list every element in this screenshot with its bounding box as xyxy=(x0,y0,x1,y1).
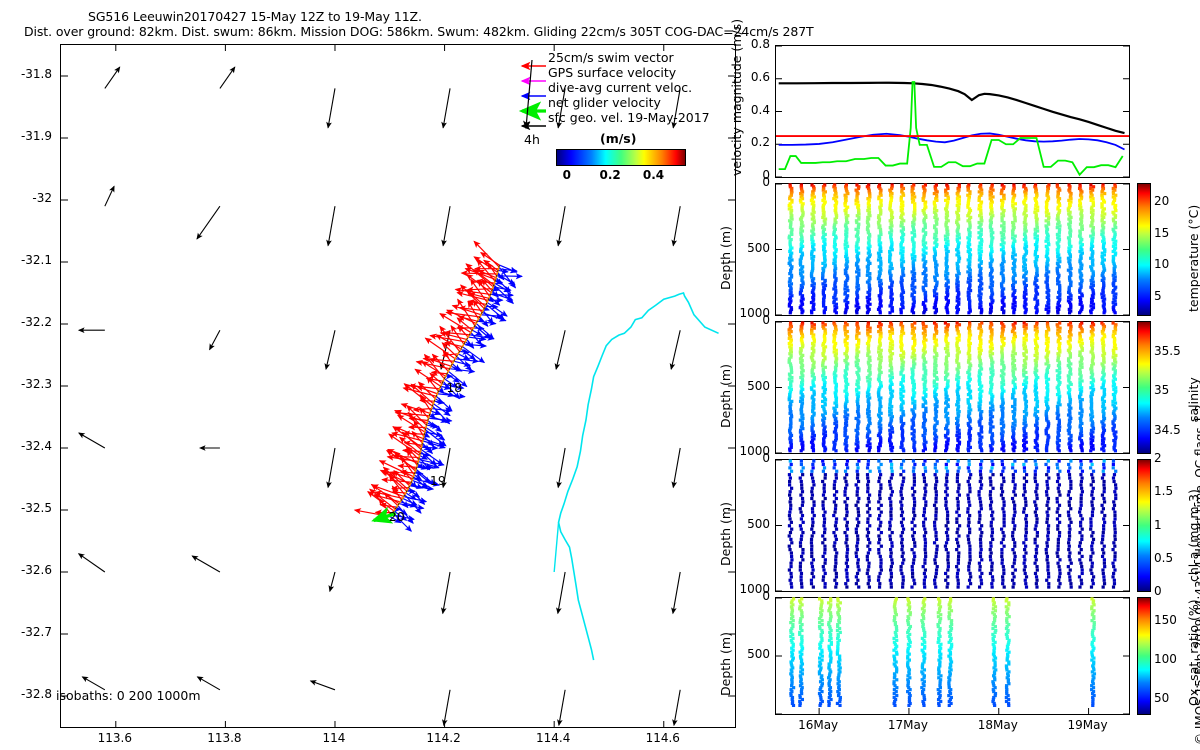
geo-velocity-arrow xyxy=(197,206,220,239)
geo-velocity-arrow xyxy=(443,572,450,613)
chla-sample xyxy=(790,585,793,588)
chla-sample xyxy=(790,470,793,473)
chla-sample xyxy=(788,511,791,514)
salinity-sample xyxy=(958,323,961,326)
chla-profiles xyxy=(788,459,1118,588)
map-y-tick: -32.5 xyxy=(0,501,52,515)
depth-tick: 500 xyxy=(705,241,770,255)
salinity-panel[interactable] xyxy=(775,321,1130,454)
dive-number-label: 20 xyxy=(389,509,405,524)
map-y-tick: -32.4 xyxy=(0,439,52,453)
temperature-sample xyxy=(922,311,925,314)
temperature-sample xyxy=(1056,311,1059,314)
temperature-sample xyxy=(789,311,792,314)
geo-velocity-arrow xyxy=(328,448,335,487)
salinity-sample xyxy=(855,449,858,452)
temperature-sample xyxy=(989,311,992,314)
salinity-profiles xyxy=(788,321,1118,452)
geo-velocity-arrow xyxy=(79,433,105,448)
chla-sample xyxy=(800,463,803,466)
temperature-sample xyxy=(1114,311,1117,314)
chla-sample xyxy=(800,483,803,486)
geo-velocity-arrow xyxy=(443,206,450,245)
salinity-sample xyxy=(788,449,791,452)
salinity-sample xyxy=(835,412,838,415)
chla-sample xyxy=(790,555,793,558)
map-colorbar-title: (m/s) xyxy=(600,131,636,146)
temperature-sample xyxy=(911,253,914,256)
temperature-colorbar-tick: 20 xyxy=(1154,194,1169,208)
velocity-y-tick: 0.4 xyxy=(710,103,770,117)
velocity-y-tick: 0.6 xyxy=(710,70,770,84)
temperature-sample xyxy=(900,311,903,314)
chla-sample xyxy=(788,545,791,548)
temperature-sample xyxy=(810,311,813,314)
chla-sample xyxy=(800,517,803,520)
salinity-sample xyxy=(967,449,970,452)
chla-sample xyxy=(790,541,793,544)
map-y-tick: -32.2 xyxy=(0,315,52,329)
temperature-colorbar xyxy=(1137,183,1151,316)
temperature-colorbar-tick: 5 xyxy=(1154,289,1162,303)
salinity-plot-canvas[interactable] xyxy=(776,322,1129,453)
chla-sample xyxy=(789,459,792,462)
temperature-sample xyxy=(855,311,858,314)
chla-sample xyxy=(799,494,802,497)
temperature-sample xyxy=(980,311,983,314)
temperature-sample xyxy=(1092,185,1095,188)
velocity-series xyxy=(779,83,1125,133)
salinity-sample xyxy=(990,449,993,452)
salinity-ylabel: Depth (m) xyxy=(718,364,733,428)
page-title-line2: Dist. over ground: 82km. Dist. swum: 86k… xyxy=(24,24,814,39)
salinity-colorbar-tick: 35.5 xyxy=(1154,344,1181,358)
swim-vector xyxy=(432,354,448,371)
dive-number-label: 18 xyxy=(446,380,462,395)
salinity-sample xyxy=(936,378,939,381)
chla-sample xyxy=(801,497,804,500)
velocity-plot-canvas[interactable] xyxy=(776,46,1129,177)
dive-avg-current-vector xyxy=(459,351,468,352)
chla-sample xyxy=(789,572,792,575)
temperature-sample xyxy=(1102,311,1105,314)
temperature-sample xyxy=(967,311,970,314)
dive-avg-current-vector xyxy=(497,276,522,277)
dive-avg-current-vector xyxy=(485,306,498,307)
temperature-sample xyxy=(991,189,994,192)
swim-vector xyxy=(425,338,455,359)
salinity-sample xyxy=(913,449,916,452)
map-x-tick: 114 xyxy=(323,731,346,745)
temperature-sample xyxy=(843,287,846,290)
chla-sample xyxy=(790,551,793,554)
geo-velocity-arrow xyxy=(328,206,335,245)
geo-velocity-arrow xyxy=(558,448,565,487)
chla-sample xyxy=(802,521,805,524)
legend-item-label: dive-avg current veloc. xyxy=(548,80,692,95)
dive-avg-current-vector xyxy=(483,310,493,323)
salinity-sample xyxy=(980,449,983,452)
temperature-profiles xyxy=(788,183,1118,314)
geo-velocity-arrow xyxy=(556,330,565,369)
temperature-sample xyxy=(991,195,994,198)
temperature-sample xyxy=(1036,209,1039,212)
geo-velocity-arrow xyxy=(328,88,335,127)
chla-sample xyxy=(802,466,805,469)
legend-item-label: sfc geo. vel. 19-May-2017 xyxy=(548,110,710,125)
chla-sample xyxy=(789,504,792,507)
salinity-sample xyxy=(1014,352,1017,355)
salinity-sample xyxy=(1102,449,1105,452)
chla-sample xyxy=(800,470,803,473)
legend-item-label: GPS surface velocity xyxy=(548,65,676,80)
salinity-sample xyxy=(902,390,905,393)
temperature-sample xyxy=(888,311,891,314)
temperature-sample xyxy=(1002,311,1005,314)
chla-sample xyxy=(801,500,804,503)
geo-velocity-arrow xyxy=(326,330,335,369)
geo-velocity-arrow xyxy=(671,330,680,369)
dive-avg-current-vector xyxy=(490,294,513,295)
dive-avg-current-vector xyxy=(427,425,439,427)
geo-velocity-arrow xyxy=(105,67,120,88)
salinity-sample xyxy=(834,449,837,452)
temperature-sample xyxy=(1035,311,1038,314)
salinity-colorbar-tick: 35 xyxy=(1154,383,1169,397)
chla-sample xyxy=(800,487,803,490)
chla-sample xyxy=(799,476,802,479)
temperature-sample xyxy=(1068,311,1071,314)
map-canvas[interactable] xyxy=(61,45,735,727)
geo-velocity-arrow xyxy=(192,556,220,572)
chla-sample xyxy=(790,558,793,561)
map-x-tick: 113.8 xyxy=(207,731,241,745)
geo-velocity-arrow xyxy=(210,330,220,349)
map-y-tick: -31.9 xyxy=(0,129,52,143)
geo-velocity-arrow xyxy=(79,554,105,572)
map-y-tick: -31.8 xyxy=(0,67,52,81)
temperature-sample xyxy=(1024,311,1027,314)
velocity-series xyxy=(779,82,1123,175)
map-colorbar-tick: 0.4 xyxy=(643,168,664,182)
chla-sample xyxy=(789,579,792,582)
salinity-sample xyxy=(956,449,959,452)
salinity-sample xyxy=(1081,449,1084,452)
chla-plot-canvas[interactable] xyxy=(776,460,1129,591)
chla-sample xyxy=(789,531,792,534)
chla-sample xyxy=(799,541,802,544)
chla-sample xyxy=(789,507,792,510)
velocity-y-tick: 0.2 xyxy=(710,135,770,149)
chla-sample xyxy=(788,466,791,469)
salinity-sample xyxy=(824,412,827,415)
chla-sample xyxy=(800,528,803,531)
chla-sample xyxy=(788,568,791,571)
salinity-sample xyxy=(845,449,848,452)
salinity-sample xyxy=(1069,449,1072,452)
salinity-sample xyxy=(868,442,871,445)
salinity-sample xyxy=(944,321,947,324)
map-y-tick: -32.3 xyxy=(0,377,52,391)
salinity-sample xyxy=(866,444,869,447)
chla-sample xyxy=(790,575,793,578)
time-scale-label: 4h xyxy=(524,132,540,147)
chla-sample xyxy=(800,538,803,541)
chla-sample xyxy=(800,534,803,537)
chla-sample xyxy=(799,511,802,514)
chla-sample xyxy=(799,545,802,548)
salinity-sample xyxy=(922,405,925,408)
dive-avg-current-vector xyxy=(428,418,451,421)
temperature-sample xyxy=(936,190,939,193)
chla-sample xyxy=(790,582,793,585)
map-colorbar-tick: 0 xyxy=(563,168,571,182)
salinity-sample xyxy=(1036,449,1039,452)
salinity-sample xyxy=(877,449,880,452)
temperature-sample xyxy=(1111,291,1114,294)
isobath-1000m xyxy=(559,293,719,660)
map-y-tick: -32.1 xyxy=(0,253,52,267)
chla-sample xyxy=(789,476,792,479)
geo-velocity-arrow xyxy=(673,572,680,613)
chla-sample xyxy=(801,514,804,517)
chla-sample xyxy=(789,500,792,503)
chla-sample xyxy=(789,538,792,541)
salinity-sample xyxy=(1089,449,1092,452)
chla-sample xyxy=(788,548,791,551)
temperature-sample xyxy=(1012,311,1015,314)
temperature-sample xyxy=(823,311,826,314)
temperature-sample xyxy=(912,311,915,314)
geo-velocity-arrow xyxy=(330,572,335,591)
legend-item-label: 25cm/s swim vector xyxy=(548,50,674,65)
chla-sample xyxy=(788,483,791,486)
time-scale-arrow xyxy=(526,60,532,128)
geo-velocity-arrow xyxy=(673,206,680,245)
geo-velocity-arrow xyxy=(105,186,114,206)
temperature-sample xyxy=(835,311,838,314)
geo-velocity-arrow xyxy=(444,690,450,725)
salinity-sample xyxy=(867,449,870,452)
temperature-sample xyxy=(846,192,849,195)
salinity-colorbar-tick: 34.5 xyxy=(1154,423,1181,437)
geo-velocity-arrow xyxy=(673,448,680,487)
geo-velocity-arrow xyxy=(559,690,565,725)
geo-velocity-arrow xyxy=(674,690,680,725)
chla-panel[interactable] xyxy=(775,459,1130,592)
map-y-tick: -32.6 xyxy=(0,563,52,577)
depth-tick: 0 xyxy=(705,175,770,189)
dive-avg-current-vector xyxy=(498,270,508,271)
temperature-colorbar-tick: 10 xyxy=(1154,257,1169,271)
map-x-tick: 114.4 xyxy=(536,731,570,745)
geo-velocity-arrow xyxy=(443,88,450,127)
swim-vector xyxy=(420,400,434,401)
salinity-sample xyxy=(800,449,803,452)
temperature-sample xyxy=(910,284,913,287)
map-colorbar-tick: 0.2 xyxy=(600,168,621,182)
salinity-sample xyxy=(1012,449,1015,452)
salinity-sample xyxy=(902,352,905,355)
swim-vector xyxy=(440,314,471,333)
temperature-sample xyxy=(924,246,927,249)
temperature-sample xyxy=(946,311,949,314)
temperature-sample xyxy=(1103,192,1106,195)
geo-velocity-arrow xyxy=(558,572,565,613)
temperature-sample xyxy=(966,214,969,217)
chla-sample xyxy=(788,514,791,517)
salinity-sample xyxy=(1112,321,1115,324)
temperature-sample xyxy=(1003,229,1006,232)
map-y-tick: -32.7 xyxy=(0,625,52,639)
temperature-sample xyxy=(934,311,937,314)
dive-avg-current-vector xyxy=(421,447,437,448)
map-colorbar xyxy=(556,149,686,166)
chla-sample xyxy=(788,534,791,537)
isobath-note: isobaths: 0 200 1000m xyxy=(56,688,201,703)
swim-vector xyxy=(474,241,499,267)
dive-avg-current-vector xyxy=(495,281,502,282)
dive-avg-current-vector xyxy=(464,344,486,346)
temperature-sample xyxy=(922,272,925,275)
swim-vector xyxy=(467,289,492,290)
chla-sample xyxy=(790,463,793,466)
temperature-sample xyxy=(868,303,871,306)
temperature-sample xyxy=(843,299,846,302)
salinity-sample xyxy=(890,449,893,452)
page-title-line1: SG516 Leeuwin20170427 15-May 12Z to 19-M… xyxy=(88,9,422,24)
dive-avg-current-vector xyxy=(415,473,423,474)
temperature-sample xyxy=(1078,311,1081,314)
chla-sample xyxy=(801,490,804,493)
salinity-sample xyxy=(922,449,925,452)
dive-avg-current-vector xyxy=(482,313,506,321)
salinity-sample xyxy=(933,449,936,452)
temperature-sample xyxy=(821,216,824,219)
salinity-colorbar xyxy=(1137,321,1151,454)
swim-vector xyxy=(384,493,397,506)
velocity-y-tick: 0.8 xyxy=(710,37,770,51)
chla-sample xyxy=(800,459,803,462)
geo-velocity-arrow xyxy=(197,677,220,690)
salinity-sample xyxy=(888,429,891,432)
salinity-sample xyxy=(944,449,947,452)
chla-sample xyxy=(800,480,803,483)
velocity-panel[interactable] xyxy=(775,45,1130,178)
salinity-sample xyxy=(888,330,891,333)
salinity-sample xyxy=(812,449,815,452)
chla-sample xyxy=(790,487,793,490)
legend-item-label: net glider velocity xyxy=(548,95,661,110)
chla-sample xyxy=(790,521,793,524)
map-y-tick: -32 xyxy=(0,191,52,205)
chla-sample xyxy=(801,531,804,534)
salinity-sample xyxy=(980,430,983,433)
salinity-sample xyxy=(1025,381,1028,384)
temperature-colorbar-label: temperature (°C) xyxy=(1186,205,1200,312)
salinity-sample xyxy=(1078,340,1081,343)
temperature-sample xyxy=(835,195,838,198)
map-x-tick: 114.2 xyxy=(426,731,460,745)
temperature-sample xyxy=(1046,311,1049,314)
temperature-colorbar-tick: 15 xyxy=(1154,226,1169,240)
chla-sample xyxy=(790,528,793,531)
salinity-sample xyxy=(902,449,905,452)
dive-avg-current-vector xyxy=(436,396,452,411)
chla-sample xyxy=(789,565,792,568)
salinity-sample xyxy=(1045,449,1048,452)
temperature-sample xyxy=(1002,241,1005,244)
map-y-tick: -32.8 xyxy=(0,687,52,701)
temperature-sample xyxy=(955,311,958,314)
salinity-sample xyxy=(1070,383,1073,386)
chla-sample xyxy=(788,473,791,476)
temperature-sample xyxy=(879,311,882,314)
chla-sample xyxy=(801,504,804,507)
depth-tick: 0 xyxy=(705,313,770,327)
dive-avg-current-vector xyxy=(424,434,429,437)
temperature-plot-canvas[interactable] xyxy=(776,184,1129,315)
temperature-sample xyxy=(1090,311,1093,314)
temperature-sample xyxy=(866,311,869,314)
temperature-panel[interactable] xyxy=(775,183,1130,316)
dive-number-label: 19 xyxy=(430,473,446,488)
chla-sample xyxy=(788,480,791,483)
temperature-sample xyxy=(980,219,983,222)
temperature-ylabel: Depth (m) xyxy=(718,226,733,290)
chla-sample xyxy=(788,494,791,497)
dive-avg-current-vector xyxy=(491,293,512,300)
temperature-sample xyxy=(800,311,803,314)
chla-sample xyxy=(799,524,802,527)
salinity-sample xyxy=(1114,449,1117,452)
salinity-sample xyxy=(899,388,902,391)
map-x-tick: 114.6 xyxy=(646,731,680,745)
chla-sample xyxy=(788,524,791,527)
map-panel[interactable] xyxy=(60,44,736,728)
temperature-sample xyxy=(947,197,950,200)
temperature-sample xyxy=(989,194,992,197)
dive-avg-current-vector xyxy=(474,328,484,329)
geo-velocity-arrow xyxy=(220,67,235,88)
chla-sample xyxy=(789,490,792,493)
geo-velocity-arrow xyxy=(558,206,565,245)
chla-sample xyxy=(799,507,802,510)
salinity-sample xyxy=(1022,449,1025,452)
temperature-sample xyxy=(1114,209,1117,212)
chla-sample xyxy=(789,562,792,565)
chla-sample xyxy=(789,497,792,500)
chla-sample xyxy=(801,473,804,476)
salinity-sample xyxy=(1002,449,1005,452)
temperature-sample xyxy=(844,311,847,314)
geo-velocity-arrow xyxy=(311,681,335,690)
salinity-sample xyxy=(1058,449,1061,452)
depth-tick: 500 xyxy=(705,379,770,393)
map-x-tick: 113.6 xyxy=(98,731,132,745)
chla-sample xyxy=(801,548,804,551)
salinity-sample xyxy=(1044,362,1047,365)
salinity-sample xyxy=(823,449,826,452)
salinity-sample xyxy=(824,398,827,401)
chla-sample xyxy=(788,517,791,520)
